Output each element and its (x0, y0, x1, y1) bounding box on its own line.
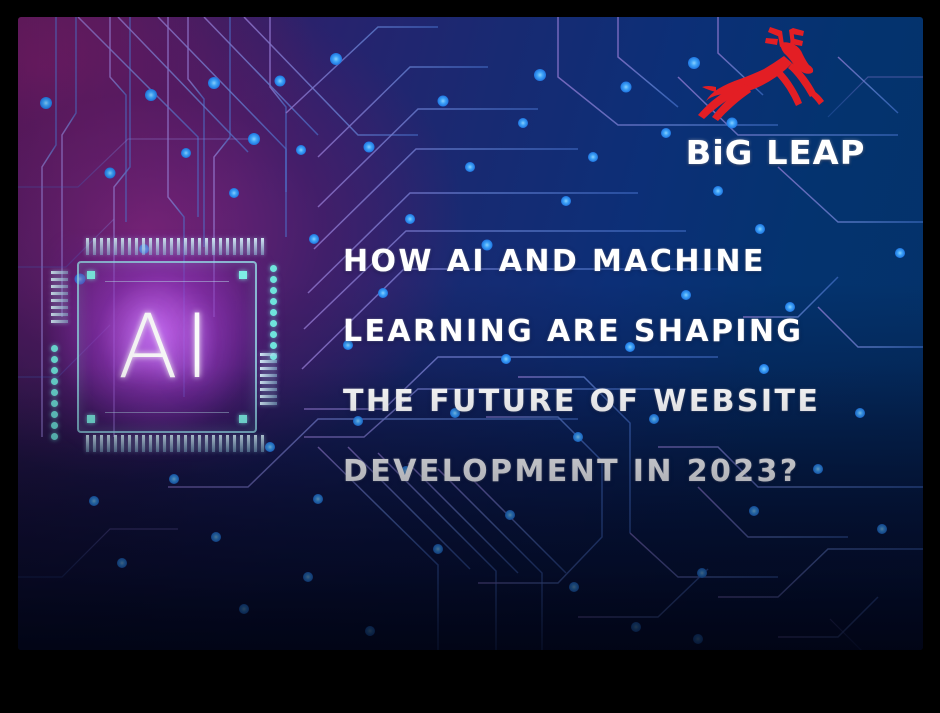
chip-pins-right-dots (270, 265, 277, 360)
chip-corner-icon (239, 271, 247, 279)
chip-pins-bottom (86, 435, 264, 452)
big-leap-wordmark: BiG LEAP (666, 133, 885, 172)
chip-pins-left-dots (51, 345, 58, 440)
chip-pins-right-bars (260, 353, 277, 405)
chip-pins-left-bars (51, 271, 68, 323)
chip-pins-top (86, 238, 264, 255)
headline-line-4: DEVELOPMENT IN 2023? (343, 437, 903, 507)
headline-line-2: LEARNING ARE SHAPING (343, 297, 903, 367)
screenshot-canvas: AI HOW AI AND MACHINE LEARNING ARE SHAPI… (0, 0, 940, 713)
chip-ai-label: AI (79, 303, 255, 391)
chip-frame: AI (77, 261, 257, 433)
chip-inner-line (105, 412, 229, 413)
leaping-deer-icon (696, 25, 846, 135)
headline-line-3: THE FUTURE OF WEBSITE (343, 367, 903, 437)
chip-corner-icon (239, 415, 247, 423)
chip-inner-line (105, 281, 229, 282)
big-leap-logo[interactable]: BiG LEAP (668, 25, 883, 180)
chip-corner-icon (87, 415, 95, 423)
chip-corner-icon (87, 271, 95, 279)
headline-line-1: HOW AI AND MACHINE (343, 227, 903, 297)
ai-microchip-graphic: AI (30, 225, 298, 465)
featured-image-banner: AI HOW AI AND MACHINE LEARNING ARE SHAPI… (18, 17, 923, 650)
headline-block: HOW AI AND MACHINE LEARNING ARE SHAPING … (343, 227, 903, 507)
